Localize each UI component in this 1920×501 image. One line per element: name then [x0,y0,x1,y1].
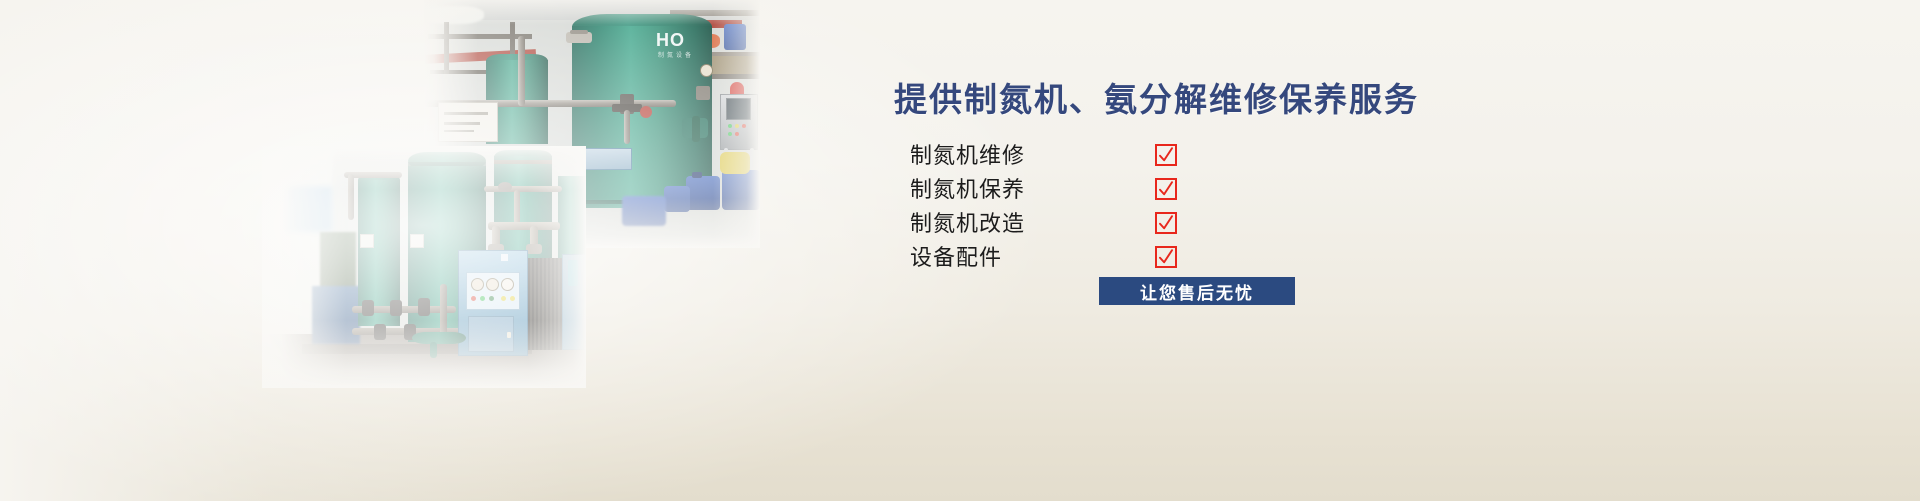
list-item[interactable]: 制氮机改造 [910,208,1380,240]
checkbox-checked-icon[interactable] [1155,144,1177,166]
service-label: 制氮机维修 [910,140,1025,172]
checkbox-checked-icon[interactable] [1155,178,1177,200]
content-panel: 提供制氮机、氨分解维修保养服务 制氮机维修 制氮机保养 [880,0,1580,501]
cta-button[interactable]: 让您售后无忧 [1099,277,1295,305]
checkbox-checked-icon[interactable] [1155,246,1177,268]
list-item[interactable]: 设备配件 [910,242,1380,274]
banner-headline: 提供制氮机、氨分解维修保养服务 [894,73,1419,121]
photo-psa-nitrogen-generator-unit [262,146,586,388]
list-item[interactable]: 制氮机保养 [910,174,1380,206]
service-label: 制氮机改造 [910,208,1025,240]
service-label: 制氮机保养 [910,174,1025,206]
checkbox-checked-icon[interactable] [1155,212,1177,234]
photo-logo-text: HO [656,30,685,51]
list-item[interactable]: 制氮机维修 [910,140,1380,172]
service-list: 制氮机维修 制氮机保养 制氮机改造 [910,140,1380,276]
cta-button-label: 让您售后无忧 [1140,279,1254,304]
photo-logo-subtext: 制氮设备 [658,50,694,59]
promo-banner: HO 制氮设备 [0,0,1920,501]
service-label: 设备配件 [910,242,1002,274]
